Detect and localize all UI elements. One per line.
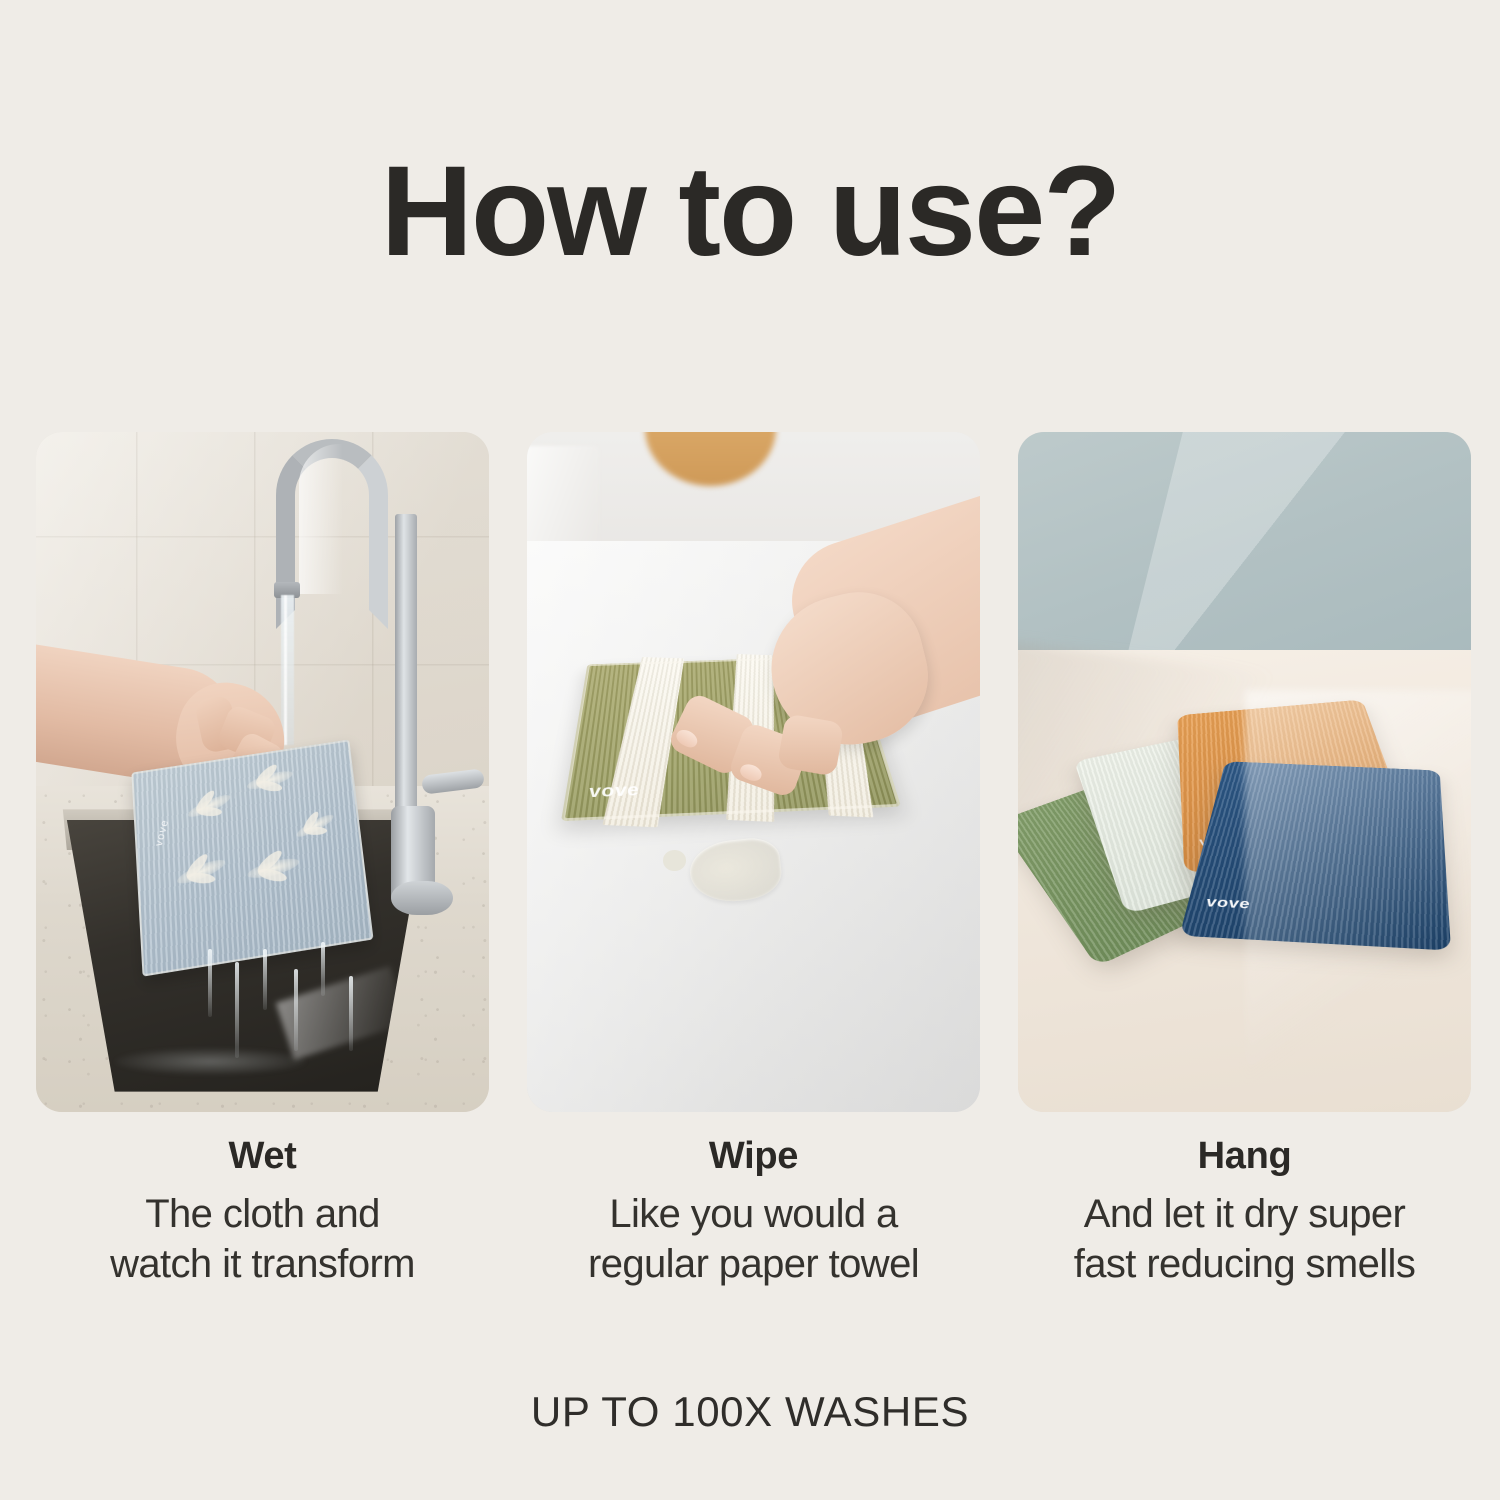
footer-claim: UP TO 100X WASHES bbox=[0, 1388, 1500, 1436]
surface-highlight bbox=[1245, 690, 1472, 1112]
blue-leaf-cloth: vove bbox=[131, 739, 373, 976]
photo-panel-row: vove bbox=[36, 432, 1472, 1112]
step-description: Like you would a regular paper towel bbox=[527, 1189, 980, 1290]
cloth-hem bbox=[131, 739, 373, 976]
water-drip bbox=[263, 949, 267, 1010]
water-drip bbox=[235, 962, 239, 1057]
brand-logo: vove bbox=[587, 781, 639, 802]
water-drip bbox=[349, 976, 353, 1051]
step-description-line: And let it dry super bbox=[1018, 1189, 1471, 1239]
finger bbox=[776, 713, 843, 777]
infographic-page: How to use? bbox=[0, 0, 1500, 1500]
step-description: The cloth and watch it transform bbox=[36, 1189, 489, 1290]
kitchen-sink-scene: vove bbox=[36, 432, 489, 1112]
caption-hang: Hang And let it dry super fast reducing … bbox=[1018, 1135, 1471, 1289]
step-description: And let it dry super fast reducing smell… bbox=[1018, 1189, 1471, 1290]
caption-wet: Wet The cloth and watch it transform bbox=[36, 1135, 489, 1289]
step-description-line: regular paper towel bbox=[527, 1239, 980, 1289]
water-drip bbox=[208, 949, 212, 1017]
caption-row: Wet The cloth and watch it transform Wip… bbox=[36, 1135, 1472, 1289]
step-title: Hang bbox=[1018, 1135, 1471, 1179]
step-description-line: fast reducing smells bbox=[1018, 1239, 1471, 1289]
caption-wipe: Wipe Like you would a regular paper towe… bbox=[527, 1135, 980, 1289]
table-wipe-scene: vove bbox=[527, 432, 980, 1112]
photo-panel-wipe: vove bbox=[527, 432, 980, 1112]
step-title: Wet bbox=[36, 1135, 489, 1179]
faucet-column bbox=[395, 514, 417, 820]
faucet-foot bbox=[391, 881, 453, 915]
water-drip bbox=[294, 969, 298, 1051]
step-description-line: watch it transform bbox=[36, 1239, 489, 1289]
water-drip bbox=[321, 942, 325, 996]
photo-panel-hang: vove vove bbox=[1018, 432, 1471, 1112]
page-title: How to use? bbox=[0, 148, 1500, 276]
step-description-line: Like you would a bbox=[527, 1189, 980, 1239]
water-stream bbox=[281, 595, 294, 745]
photo-panel-wet: vove bbox=[36, 432, 489, 1112]
cloth-fan-scene: vove vove bbox=[1018, 432, 1471, 1112]
step-title: Wipe bbox=[527, 1135, 980, 1179]
liquid-droplet bbox=[663, 850, 686, 870]
sink-water-pool bbox=[115, 1048, 306, 1075]
step-description-line: The cloth and bbox=[36, 1189, 489, 1239]
